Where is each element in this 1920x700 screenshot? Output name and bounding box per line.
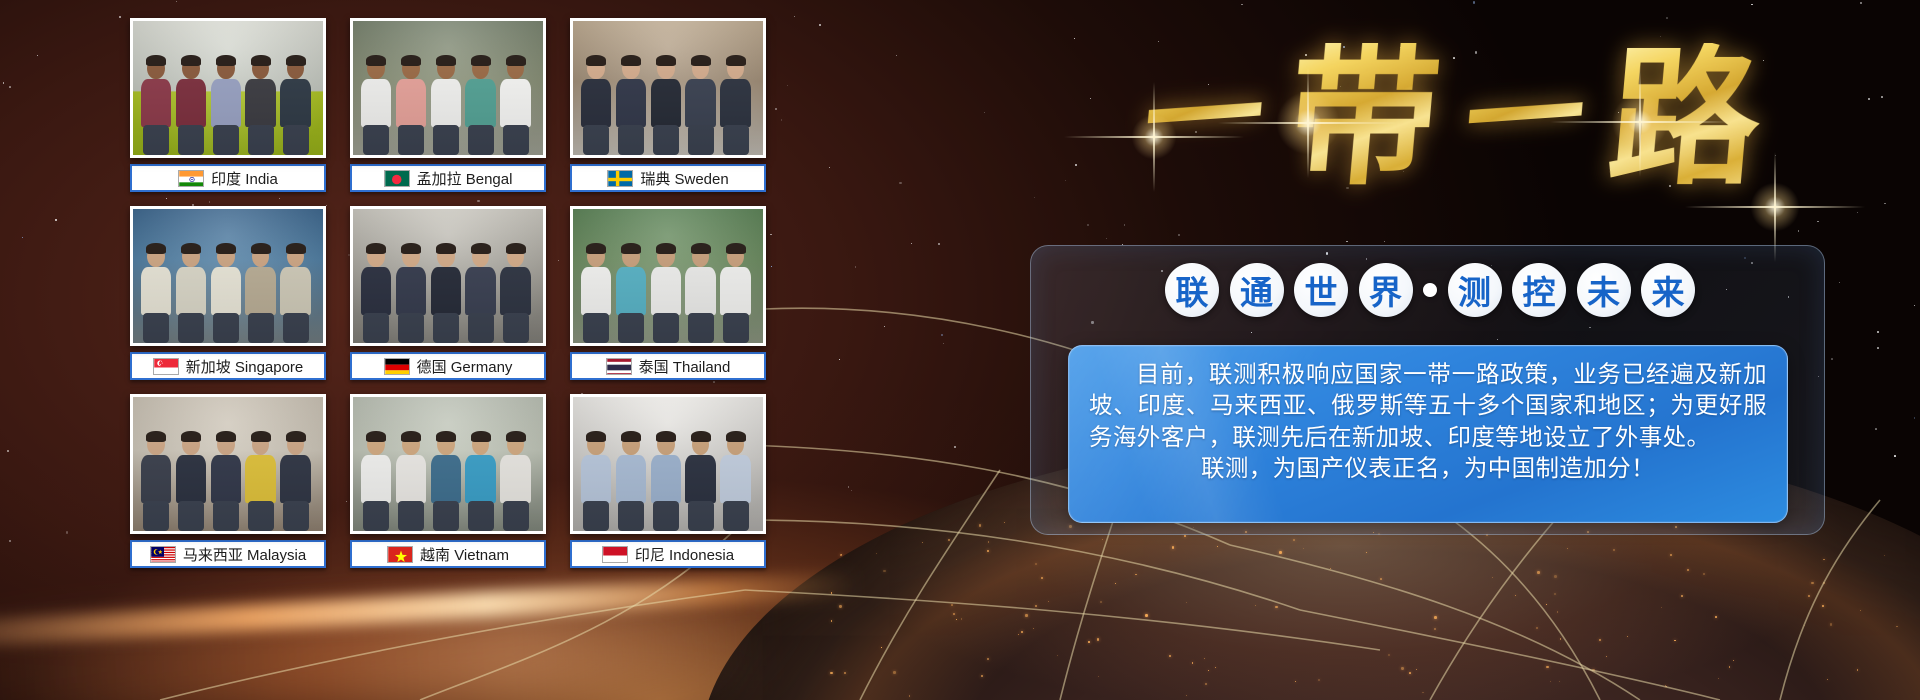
flag-germany-icon bbox=[384, 358, 410, 375]
calligraphy-char-3: 一 bbox=[1460, 55, 1589, 181]
country-card[interactable]: 印尼 Indonesia bbox=[570, 394, 766, 572]
country-photo[interactable] bbox=[130, 18, 326, 158]
calligraphy-char-2: 带 bbox=[1283, 43, 1446, 193]
country-label[interactable]: 马来西亚 Malaysia bbox=[130, 540, 326, 568]
headline-calligraphy: 一 带 一 路 bbox=[1025, 12, 1880, 224]
country-card[interactable]: 孟加拉 Bengal bbox=[350, 18, 546, 196]
calligraphy-char-4: 路 bbox=[1603, 43, 1766, 193]
description-paragraph-1: 目前，联测积极响应国家一带一路政策，业务已经遍及新加坡、印度、马来西亚、俄罗斯等… bbox=[1089, 359, 1767, 453]
country-label-text: 泰国 Thailand bbox=[639, 356, 731, 377]
flag-bangladesh-icon bbox=[384, 170, 410, 187]
flag-india-icon bbox=[178, 170, 204, 187]
country-photo[interactable] bbox=[350, 18, 546, 158]
flag-singapore-icon bbox=[153, 358, 179, 375]
country-label-text: 瑞典 Sweden bbox=[640, 168, 728, 189]
slogan-char-badge: 联 bbox=[1165, 263, 1219, 317]
country-photo[interactable] bbox=[570, 18, 766, 158]
country-label[interactable]: 越南 Vietnam bbox=[350, 540, 546, 568]
country-label-text: 越南 Vietnam bbox=[420, 544, 509, 565]
slogan-char-badge: 世 bbox=[1294, 263, 1348, 317]
country-label-text: 印度 India bbox=[211, 168, 278, 189]
country-card[interactable]: 越南 Vietnam bbox=[350, 394, 546, 572]
slogan-char-badge: 界 bbox=[1359, 263, 1413, 317]
description-paragraph-2: 联测，为国产仪表正名，为中国制造加分！ bbox=[1089, 453, 1767, 484]
country-photo-grid: 印度 India bbox=[130, 18, 770, 584]
country-label[interactable]: 印度 India bbox=[130, 164, 326, 192]
country-label[interactable]: 德国 Germany bbox=[350, 352, 546, 380]
country-label-text: 德国 Germany bbox=[417, 356, 513, 377]
country-label[interactable]: 孟加拉 Bengal bbox=[350, 164, 546, 192]
calligraphy-char-1: 一 bbox=[1140, 55, 1269, 181]
slogan-row: 联通世界测控未来 bbox=[1165, 262, 1695, 318]
slogan-char-badge: 未 bbox=[1577, 263, 1631, 317]
flag-thailand-icon bbox=[606, 358, 632, 375]
country-card[interactable]: 新加坡 Singapore bbox=[130, 206, 326, 384]
slogan-separator-dot bbox=[1423, 283, 1437, 297]
slogan-char-badge: 来 bbox=[1641, 263, 1695, 317]
flag-malaysia-icon bbox=[150, 546, 176, 563]
country-label[interactable]: 新加坡 Singapore bbox=[130, 352, 326, 380]
country-photo[interactable] bbox=[130, 206, 326, 346]
country-card[interactable]: 马来西亚 Malaysia bbox=[130, 394, 326, 572]
slogan-char-badge: 测 bbox=[1448, 263, 1502, 317]
country-label[interactable]: 泰国 Thailand bbox=[570, 352, 766, 380]
country-card[interactable]: 泰国 Thailand bbox=[570, 206, 766, 384]
country-photo[interactable] bbox=[350, 394, 546, 534]
country-label-text: 马来西亚 Malaysia bbox=[183, 544, 306, 565]
flag-sweden-icon bbox=[607, 170, 633, 187]
country-card[interactable]: 瑞典 Sweden bbox=[570, 18, 766, 196]
flag-vietnam-icon bbox=[387, 546, 413, 563]
country-photo[interactable] bbox=[130, 394, 326, 534]
country-label[interactable]: 瑞典 Sweden bbox=[570, 164, 766, 192]
country-photo[interactable] bbox=[570, 394, 766, 534]
country-label-text: 新加坡 Singapore bbox=[186, 356, 304, 377]
country-label-text: 孟加拉 Bengal bbox=[417, 168, 513, 189]
country-photo[interactable] bbox=[570, 206, 766, 346]
country-photo[interactable] bbox=[350, 206, 546, 346]
slogan-char-badge: 控 bbox=[1512, 263, 1566, 317]
banner-stage: 印度 India bbox=[0, 0, 1920, 700]
flag-indonesia-icon bbox=[602, 546, 628, 563]
description-panel: 目前，联测积极响应国家一带一路政策，业务已经遍及新加坡、印度、马来西亚、俄罗斯等… bbox=[1068, 345, 1788, 523]
country-label[interactable]: 印尼 Indonesia bbox=[570, 540, 766, 568]
slogan-char-badge: 通 bbox=[1230, 263, 1284, 317]
country-label-text: 印尼 Indonesia bbox=[635, 544, 734, 565]
country-card[interactable]: 德国 Germany bbox=[350, 206, 546, 384]
country-card[interactable]: 印度 India bbox=[130, 18, 326, 196]
